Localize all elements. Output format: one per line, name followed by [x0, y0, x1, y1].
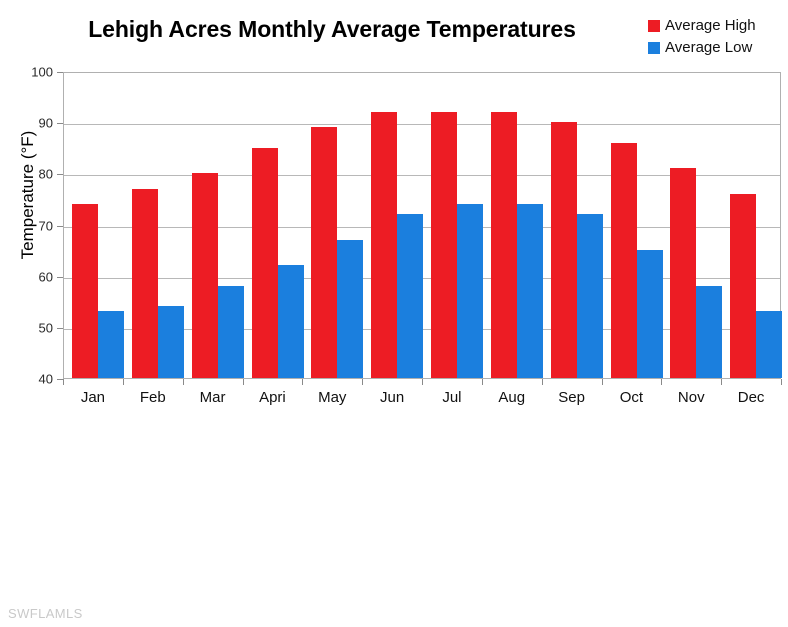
- y-tick-label: 100: [31, 65, 53, 80]
- x-tick-mark: [243, 379, 244, 385]
- bar-group: [483, 73, 543, 378]
- bar-group: [64, 73, 124, 378]
- temperature-bar-chart: Lehigh Acres Monthly Average Temperature…: [0, 0, 788, 627]
- bar-high: [132, 189, 158, 378]
- y-tick-label: 70: [39, 218, 53, 233]
- bar-low: [337, 240, 363, 378]
- x-tick-label: Oct: [620, 389, 643, 406]
- x-tick-mark: [63, 379, 64, 385]
- bar-low: [756, 311, 782, 378]
- legend-label: Average Low: [665, 39, 752, 56]
- bar-high: [371, 112, 397, 378]
- bar-high: [611, 143, 637, 378]
- plot-area: [63, 72, 781, 379]
- bar-high: [491, 112, 517, 378]
- bar-low: [457, 204, 483, 378]
- y-tick-mark: [57, 277, 63, 278]
- x-tick-mark: [542, 379, 543, 385]
- x-tick-label: Sep: [558, 389, 585, 406]
- watermark: SWFLAMLS: [8, 606, 83, 621]
- bar-low: [696, 286, 722, 378]
- bar-high: [431, 112, 457, 378]
- bar-high: [730, 194, 756, 378]
- bar-group: [184, 73, 244, 378]
- x-tick-label: Feb: [140, 389, 166, 406]
- bar-group: [722, 73, 782, 378]
- bar-high: [192, 173, 218, 378]
- bar-group: [244, 73, 304, 378]
- y-tick-mark: [57, 72, 63, 73]
- bar-low: [218, 286, 244, 378]
- bars-layer: [64, 73, 780, 378]
- x-tick-mark: [602, 379, 603, 385]
- y-axis-title: Temperature (°F): [18, 90, 38, 300]
- bar-low: [397, 214, 423, 378]
- legend-label: Average High: [665, 17, 756, 34]
- x-tick-label: Apri: [259, 389, 286, 406]
- y-tick-mark: [57, 174, 63, 175]
- x-tick-label: Dec: [738, 389, 765, 406]
- bar-group: [662, 73, 722, 378]
- y-tick-label: 60: [39, 269, 53, 284]
- x-tick-label: Nov: [678, 389, 705, 406]
- x-tick-mark: [183, 379, 184, 385]
- bar-group: [603, 73, 663, 378]
- y-tick-label: 90: [39, 116, 53, 131]
- legend-entry-average-high: Average High: [648, 15, 784, 36]
- chart-title: Lehigh Acres Monthly Average Temperature…: [72, 16, 592, 43]
- x-tick-mark: [721, 379, 722, 385]
- bar-low: [577, 214, 603, 378]
- bar-group: [423, 73, 483, 378]
- bar-high: [670, 168, 696, 378]
- x-tick-label: Mar: [200, 389, 226, 406]
- bar-low: [158, 306, 184, 378]
- bar-group: [303, 73, 363, 378]
- bar-low: [637, 250, 663, 378]
- bar-high: [252, 148, 278, 378]
- x-tick-label: Jul: [442, 389, 461, 406]
- x-tick-mark: [661, 379, 662, 385]
- bar-low: [517, 204, 543, 378]
- x-tick-label: Jan: [81, 389, 105, 406]
- y-tick-label: 40: [39, 372, 53, 387]
- x-tick-mark: [302, 379, 303, 385]
- bar-group: [543, 73, 603, 378]
- x-tick-mark: [422, 379, 423, 385]
- y-tick-mark: [57, 226, 63, 227]
- bar-group: [124, 73, 184, 378]
- y-tick-mark: [57, 328, 63, 329]
- bar-low: [278, 265, 304, 378]
- chart-legend: Average HighAverage Low: [648, 15, 784, 59]
- legend-swatch-icon: [648, 20, 660, 32]
- y-tick-mark: [57, 123, 63, 124]
- x-tick-mark: [123, 379, 124, 385]
- y-tick-label: 50: [39, 320, 53, 335]
- bar-group: [363, 73, 423, 378]
- bar-high: [551, 122, 577, 378]
- bar-high: [311, 127, 337, 378]
- x-tick-mark: [362, 379, 363, 385]
- x-tick-label: May: [318, 389, 346, 406]
- x-tick-label: Aug: [498, 389, 525, 406]
- bar-low: [98, 311, 124, 378]
- bar-high: [72, 204, 98, 378]
- x-tick-mark: [781, 379, 782, 385]
- legend-swatch-icon: [648, 42, 660, 54]
- x-axis: JanFebMarApriMayJunJulAugSepOctNovDec: [63, 379, 781, 409]
- legend-entry-average-low: Average Low: [648, 37, 784, 58]
- x-tick-mark: [482, 379, 483, 385]
- x-tick-label: Jun: [380, 389, 404, 406]
- y-tick-label: 80: [39, 167, 53, 182]
